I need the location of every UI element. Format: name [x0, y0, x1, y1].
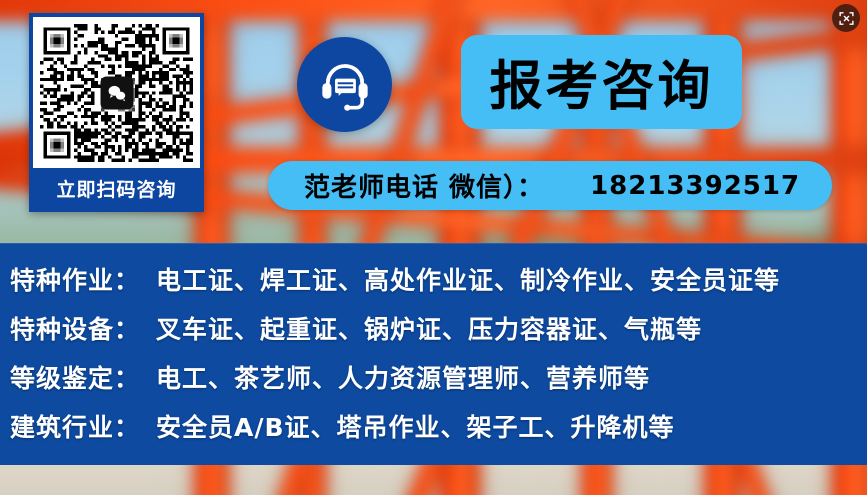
info-row-items: 电工证、焊工证、高处作业证、制冷作业、安全员证等 — [156, 261, 780, 297]
scan-frame-icon[interactable] — [832, 4, 860, 32]
headset-glyph — [316, 56, 374, 114]
info-row: 等级鉴定： 电工、茶艺师、人力资源管理师、营养师等 — [10, 359, 867, 408]
info-row-category: 等级鉴定： — [10, 359, 140, 395]
consult-banner-title: 报考咨询 — [490, 44, 714, 120]
qr-code-image — [33, 17, 200, 168]
contact-label: 范老师电话 微信）： — [304, 167, 544, 204]
certificate-rows: 特种作业： 电工证、焊工证、高处作业证、制冷作业、安全员证等 特种设备： 叉车证… — [0, 243, 867, 457]
qr-code-card[interactable]: 立即扫码咨询 — [29, 13, 204, 212]
qr-matrix — [40, 24, 193, 162]
info-row-category: 特种设备： — [10, 310, 140, 346]
info-row: 建筑行业： 安全员A/B证、塔吊作业、架子工、升降机等 — [10, 408, 867, 457]
info-row-category: 特种作业： — [10, 261, 140, 297]
scan-frame-glyph — [838, 10, 855, 27]
info-row-items: 叉车证、起重证、锅炉证、压力容器证、气瓶等 — [156, 310, 702, 346]
contact-phone-bar[interactable]: 范老师电话 微信）： 18213392517 — [268, 161, 832, 210]
certificate-info-panel: 特种作业： 电工证、焊工证、高处作业证、制冷作业、安全员证等 特种设备： 叉车证… — [0, 243, 867, 465]
wechat-glyph — [106, 82, 127, 103]
wechat-icon — [100, 76, 133, 109]
info-row-category: 建筑行业： — [10, 408, 140, 444]
info-row: 特种设备： 叉车证、起重证、锅炉证、压力容器证、气瓶等 — [10, 310, 867, 359]
contact-number: 18213392517 — [590, 171, 800, 201]
promo-screen: 立即扫码咨询 报考咨询 范老师电话 微信）： 18213392517 — [0, 0, 867, 495]
info-row: 特种作业： 电工证、焊工证、高处作业证、制冷作业、安全员证等 — [10, 261, 867, 310]
info-row-items: 安全员A/B证、塔吊作业、架子工、升降机等 — [156, 408, 675, 444]
headset-support-icon[interactable] — [297, 37, 392, 132]
consult-banner[interactable]: 报考咨询 — [461, 35, 742, 129]
qr-caption: 立即扫码咨询 — [33, 168, 200, 208]
info-row-items: 电工、茶艺师、人力资源管理师、营养师等 — [156, 359, 650, 395]
